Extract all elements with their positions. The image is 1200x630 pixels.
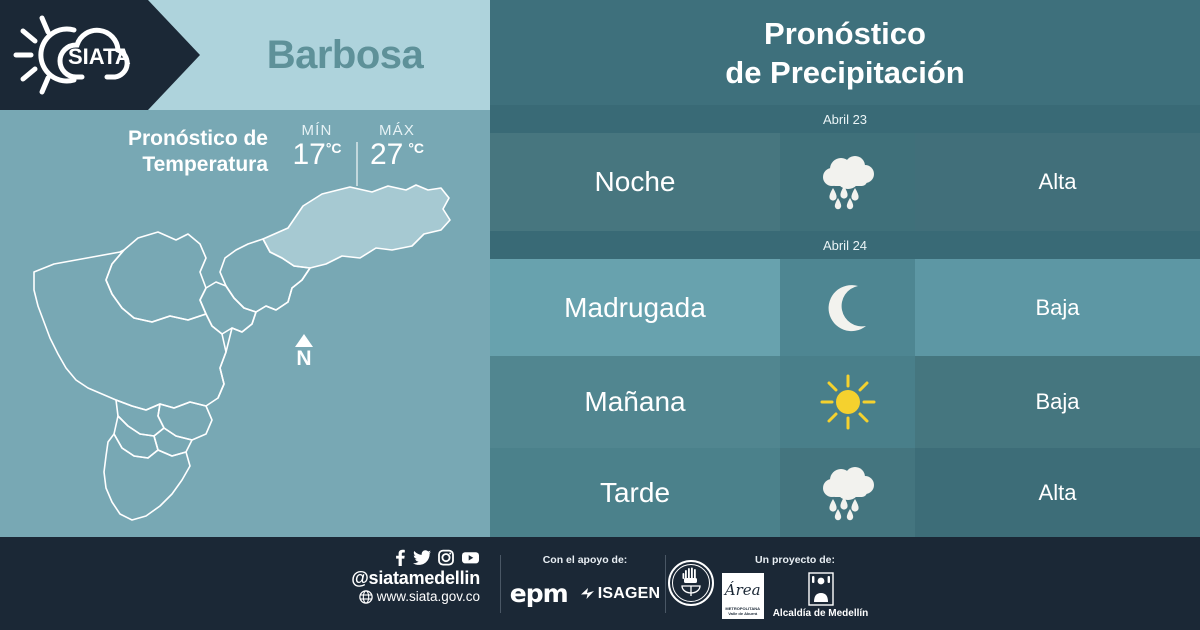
aburra-valley-map: N bbox=[20, 176, 470, 531]
temperature-max-label: MÁX bbox=[358, 122, 436, 139]
forecast-row-tarde[interactable]: Tarde Alta bbox=[490, 448, 1200, 537]
rain-cloud-icon bbox=[817, 464, 879, 522]
forecast-probability-manana: Baja bbox=[915, 356, 1200, 448]
epm-logo: epm bbox=[510, 579, 568, 608]
project-caption: Un proyecto de: bbox=[715, 554, 875, 566]
forecast-icon-cell-tarde bbox=[780, 448, 915, 537]
siata-logo-text: SIATA bbox=[68, 44, 131, 69]
map-region-copacabana bbox=[200, 282, 256, 334]
am-line2: Valle de Aburrá bbox=[728, 611, 757, 616]
temperature-min: MÍN 17°C bbox=[278, 122, 356, 172]
area-metropolitana-script: Área bbox=[722, 581, 764, 599]
forecast-row-manana[interactable]: Mañana Baja bbox=[490, 356, 1200, 448]
social-block: @siatamedellin www.siata.gov.co bbox=[330, 549, 480, 605]
temperature-min-value: 17 bbox=[292, 138, 325, 171]
forecast-icon-cell-manana bbox=[780, 356, 915, 448]
forecast-row-noche[interactable]: Noche Alta bbox=[490, 133, 1200, 231]
temperature-panel: SIATA Barbosa Pronóstico de Temperatura … bbox=[0, 0, 490, 537]
website-url: www.siata.gov.co bbox=[377, 589, 480, 605]
precipitation-title: Pronóstico de Precipitación bbox=[490, 0, 1200, 108]
forecast-period-madrugada: Madrugada bbox=[490, 259, 780, 356]
map-region-caldas bbox=[104, 434, 190, 520]
precipitation-title-line2: de Precipitación bbox=[725, 54, 964, 93]
temperature-max-unit: °C bbox=[408, 140, 424, 156]
rain-cloud-icon bbox=[817, 153, 879, 211]
temperature-min-label: MÍN bbox=[278, 122, 356, 139]
temperature-min-value-group: 17°C bbox=[278, 138, 356, 172]
footer: @siatamedellin www.siata.gov.co Con el a… bbox=[0, 537, 1200, 630]
map-region-envigado bbox=[158, 402, 212, 440]
map-svg bbox=[20, 176, 470, 531]
date-band-first: Abril 23 bbox=[490, 105, 1200, 133]
map-region-bello bbox=[106, 232, 206, 322]
alcaldia-crest-icon bbox=[808, 572, 834, 606]
temperature-title-line2: Temperatura bbox=[142, 153, 268, 176]
map-region-east-edge bbox=[218, 268, 310, 398]
area-metropolitana-logo: Área METROPOLITANA Valle de Aburrá bbox=[722, 573, 764, 619]
weather-infographic: SIATA Barbosa Pronóstico de Temperatura … bbox=[0, 0, 1200, 630]
forecast-probability-madrugada: Baja bbox=[915, 259, 1200, 356]
unal-seal-icon bbox=[670, 562, 712, 604]
sun-icon bbox=[819, 373, 877, 431]
social-handle[interactable]: @siatamedellin bbox=[330, 568, 480, 589]
social-icon-row bbox=[330, 549, 480, 566]
isagen-mark-icon bbox=[580, 586, 595, 601]
support-block: Con el apoyo de: epm ISAGEN bbox=[510, 554, 660, 608]
twitter-icon[interactable] bbox=[413, 549, 431, 566]
isagen-logo: ISAGEN bbox=[598, 585, 661, 603]
map-region-barbosa bbox=[263, 185, 450, 268]
footer-divider-1 bbox=[500, 555, 501, 613]
north-indicator: N bbox=[295, 334, 313, 369]
temperature-max-value-group: 27°C bbox=[358, 138, 436, 172]
temperature-max-value: 27 bbox=[370, 138, 403, 171]
instagram-icon[interactable] bbox=[438, 549, 454, 566]
alcaldia-name: Alcaldía de Medellín bbox=[773, 608, 869, 619]
forecast-period-tarde: Tarde bbox=[490, 448, 780, 537]
support-caption: Con el apoyo de: bbox=[510, 554, 660, 566]
alcaldia-logo: Alcaldía de Medellín bbox=[773, 572, 869, 619]
forecast-icon-cell-madrugada bbox=[780, 259, 915, 356]
precipitation-panel: Pronóstico de Precipitación Abril 23 Noc… bbox=[490, 0, 1200, 537]
project-block: Un proyecto de: Área METROPOLITANA Valle… bbox=[715, 554, 875, 619]
moon-icon bbox=[822, 282, 874, 334]
precipitation-title-line1: Pronóstico bbox=[764, 15, 926, 54]
temperature-title-line1: Pronóstico de bbox=[128, 127, 268, 150]
map-region-itagui bbox=[116, 400, 164, 436]
forecast-icon-cell-noche bbox=[780, 133, 915, 231]
globe-icon bbox=[359, 590, 373, 604]
facebook-icon[interactable] bbox=[393, 549, 406, 566]
city-title: Barbosa bbox=[200, 0, 490, 110]
map-region-la-estrella bbox=[114, 416, 158, 458]
footer-divider-2 bbox=[665, 555, 666, 613]
forecast-row-madrugada[interactable]: Madrugada Baja bbox=[490, 259, 1200, 356]
forecast-probability-tarde: Alta bbox=[915, 448, 1200, 537]
temperature-title: Pronóstico de Temperatura bbox=[88, 126, 268, 177]
forecast-period-manana: Mañana bbox=[490, 356, 780, 448]
website-row[interactable]: www.siata.gov.co bbox=[330, 589, 480, 605]
forecast-probability-noche: Alta bbox=[915, 133, 1200, 231]
area-metropolitana-name: METROPOLITANA Valle de Aburrá bbox=[722, 606, 764, 616]
youtube-icon[interactable] bbox=[461, 549, 480, 566]
sun-cloud-icon: SIATA bbox=[12, 14, 138, 96]
north-arrow-icon bbox=[295, 334, 313, 347]
date-band-second: Abril 24 bbox=[490, 231, 1200, 259]
temperature-min-unit: °C bbox=[326, 140, 342, 156]
north-label: N bbox=[295, 348, 313, 369]
temperature-max: MÁX 27°C bbox=[358, 122, 436, 172]
unal-seal-logo bbox=[668, 560, 714, 606]
forecast-period-noche: Noche bbox=[490, 133, 780, 231]
map-region-medellin bbox=[34, 250, 226, 410]
